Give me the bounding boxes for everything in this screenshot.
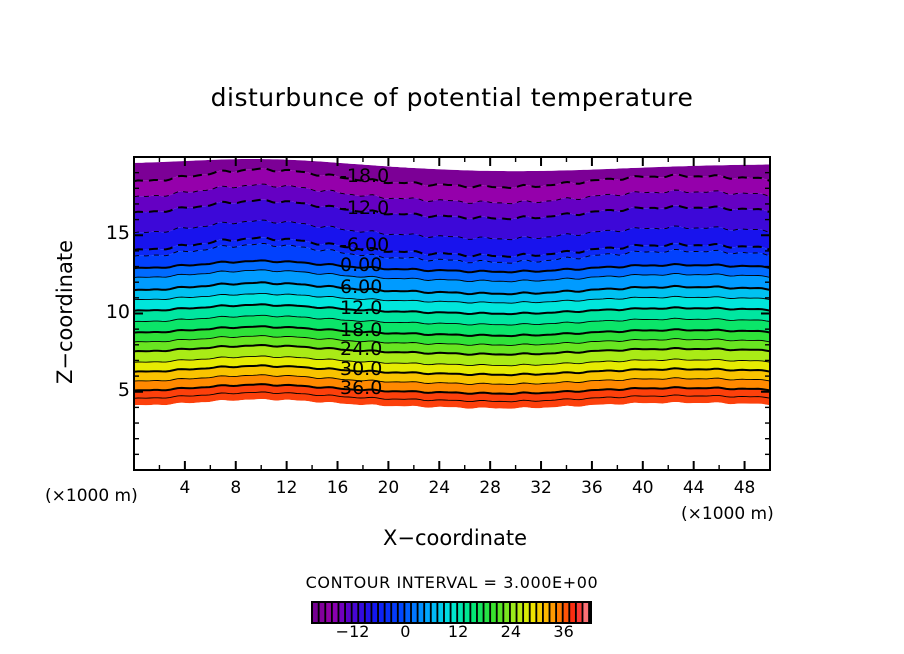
contour-label: 24.0: [340, 338, 382, 360]
x-tick-label: 24: [419, 478, 459, 498]
x-tick-label: 48: [725, 478, 765, 498]
y-tick-label: 5: [90, 379, 130, 401]
x-tick-label: 20: [368, 478, 408, 498]
y-tick-label: 10: [90, 301, 130, 323]
colorbar-tick-label: −12: [333, 622, 373, 641]
colorbar-tick-label: 12: [438, 622, 478, 641]
x-tick-label: 44: [674, 478, 714, 498]
contour-label: 36.0: [340, 377, 382, 399]
contour-label: 0.00: [340, 254, 382, 276]
contour-label: 12.0: [340, 297, 382, 319]
colorbar-tick-label: 0: [385, 622, 425, 641]
colorbar-tick-label: 36: [544, 622, 584, 641]
chart-page: disturbunce of potential temperature Z−c…: [0, 0, 904, 654]
x-tick-label: 12: [267, 478, 307, 498]
x-tick-label: 36: [572, 478, 612, 498]
x-tick-label: 16: [318, 478, 358, 498]
x-tick-label: 28: [470, 478, 510, 498]
contour-label: 6.00: [340, 276, 382, 298]
colorbar-tick-label: 24: [491, 622, 531, 641]
x-tick-label: 8: [216, 478, 256, 498]
x-tick-label: 32: [521, 478, 561, 498]
contour-plot-canvas: [0, 0, 904, 654]
contour-label: -12.0: [340, 197, 389, 219]
x-tick-label: 4: [165, 478, 205, 498]
x-tick-label: 40: [623, 478, 663, 498]
colorbar: [311, 601, 592, 624]
contour-label: -18.0: [340, 165, 389, 187]
y-tick-label: 15: [90, 222, 130, 244]
